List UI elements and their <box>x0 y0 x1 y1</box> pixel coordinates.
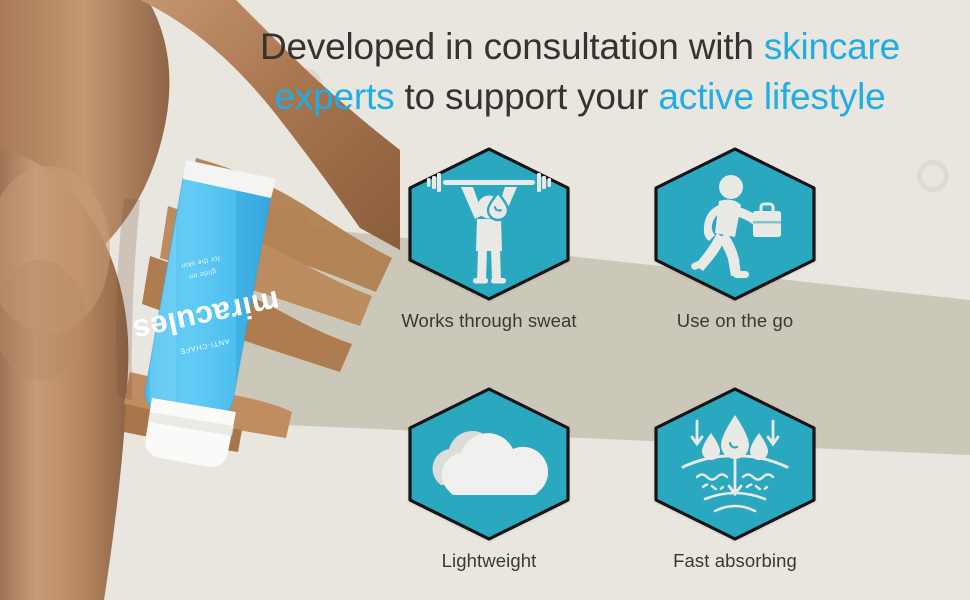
feature-lightweight: Lightweight <box>392 385 586 595</box>
hexagon-badge <box>649 385 821 543</box>
decorative-ring-icon <box>917 160 949 192</box>
feature-label: Use on the go <box>677 310 794 332</box>
feature-label: Lightweight <box>442 550 537 572</box>
hexagon-badge <box>403 385 575 543</box>
headline-segment-2: to support your <box>394 76 658 117</box>
hexagon-badge <box>649 145 821 303</box>
feature-label: Works through sweat <box>401 310 576 332</box>
feature-fast-absorbing: Fast absorbing <box>638 385 832 595</box>
feature-use-on-the-go: Use on the go <box>638 145 832 355</box>
feature-works-through-sweat: Works through sweat <box>392 145 586 355</box>
hexagon-badge <box>403 145 575 303</box>
feature-grid: Works through sweat <box>392 145 832 595</box>
headline-segment-0: Developed in consultation with <box>260 26 764 67</box>
promo-banner: miracules ANTI-CHAFE glide on for the sk… <box>0 0 970 600</box>
headline: Developed in consultation with skincare … <box>200 22 960 123</box>
headline-segment-3: active lifestyle <box>658 76 885 117</box>
feature-label: Fast absorbing <box>673 550 797 572</box>
